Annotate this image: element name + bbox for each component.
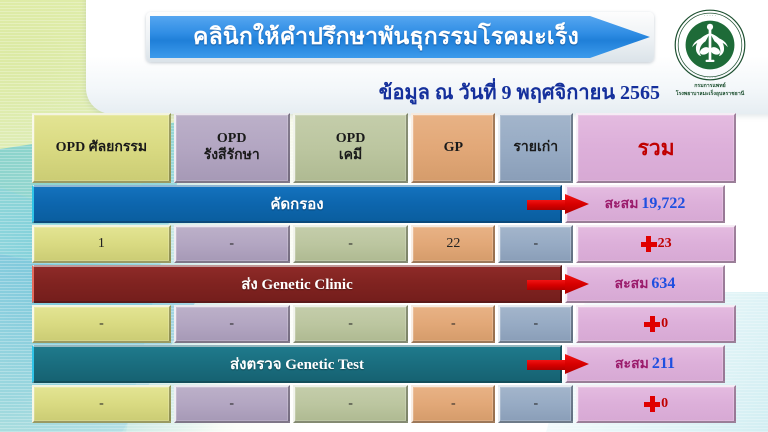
column-header-opd-radiotherapy: OPD รังสีรักษา: [174, 113, 290, 183]
cell-screening-existing: -: [498, 225, 573, 263]
cell-screening-opd-chemo: -: [293, 225, 409, 263]
total-cell-screening-delta: 23: [576, 225, 736, 263]
cell-genetic-clinic-opd-chemo-value: -: [348, 316, 353, 332]
cell-screening-opd-chemo-value: -: [348, 236, 353, 252]
total-cell-genetic-test-accum: สะสม211: [565, 345, 725, 383]
column-header-gp-line1: GP: [444, 140, 463, 155]
cell-screening-existing-value: -: [533, 236, 538, 252]
accum-value-genetic-test: 211: [652, 355, 675, 372]
delta-value-screening: 23: [658, 236, 672, 252]
cell-genetic-test-existing: -: [498, 385, 573, 423]
cell-genetic-clinic-existing-value: -: [533, 316, 538, 332]
statistics-table: OPD ศัลยกรรม OPD รังสีรักษา OPD เคมี GP: [32, 113, 736, 429]
cell-genetic-test-gp-value: -: [451, 396, 456, 412]
table-row-genetic-clinic-values: - - - - - 0: [32, 305, 736, 343]
logo-caption-line2: โรงพยาบาลมะเร็งอุบลราชธานี: [658, 91, 762, 99]
column-header-opd-chemo-line2: เคมี: [339, 148, 362, 163]
logo-caption-line1: กรมการแพทย์: [658, 83, 762, 91]
column-header-opd-surgery-line1: OPD ศัลยกรรม: [56, 140, 147, 155]
column-header-opd-radiotherapy-line2: รังสีรักษา: [204, 148, 260, 163]
title-banner-chevron: คลินิกให้คำปรึกษาพันธุกรรมโรคมะเร็ง: [150, 16, 650, 58]
band-row-genetic-clinic: ส่ง Genetic Clinic สะสม634: [32, 265, 736, 303]
cell-genetic-test-opd-radiotherapy-value: -: [229, 396, 234, 412]
delta-value-genetic-clinic: 0: [661, 316, 668, 332]
cell-genetic-clinic-opd-chemo: -: [293, 305, 409, 343]
cell-screening-opd-radiotherapy: -: [174, 225, 290, 263]
column-header-opd-radiotherapy-line1: OPD: [217, 131, 247, 146]
plus-icon: [644, 316, 660, 332]
cell-screening-opd-surgery-value: 1: [98, 236, 105, 252]
arrow-icon-genetic-test: [527, 354, 589, 374]
cell-genetic-clinic-existing: -: [498, 305, 573, 343]
band-row-genetic-test: ส่งตรวจ Genetic Test สะสม211: [32, 345, 736, 383]
band-label-genetic-clinic: ส่ง Genetic Clinic: [32, 265, 562, 303]
logo-caption: กรมการแพทย์ โรงพยาบาลมะเร็งอุบลราชธานี: [658, 83, 762, 98]
organization-logo: · · · · · · · · · · กรมการแพทย์ โรงพยาบา…: [658, 8, 762, 106]
plus-icon: [641, 236, 657, 252]
total-cell-genetic-clinic-delta: 0: [576, 305, 736, 343]
cell-genetic-test-opd-surgery: -: [32, 385, 171, 423]
slide-canvas: คลินิกให้คำปรึกษาพันธุกรรมโรคมะเร็ง ข้อม…: [0, 0, 768, 432]
cell-genetic-clinic-gp-value: -: [451, 316, 456, 332]
cell-genetic-clinic-opd-radiotherapy-value: -: [229, 316, 234, 332]
column-header-total-label: รวม: [638, 132, 675, 165]
accum-label-genetic-clinic: สะสม: [615, 277, 649, 292]
accum-label-genetic-test: สะสม: [615, 357, 649, 372]
title-banner: คลินิกให้คำปรึกษาพันธุกรรมโรคมะเร็ง: [146, 12, 654, 62]
band-label-genetic-test-text: ส่งตรวจ Genetic Test: [230, 352, 364, 376]
cell-genetic-clinic-opd-surgery: -: [32, 305, 171, 343]
cell-genetic-clinic-opd-radiotherapy: -: [174, 305, 290, 343]
cell-genetic-clinic-opd-surgery-value: -: [99, 316, 104, 332]
arrow-icon-screening: [527, 194, 589, 214]
cell-genetic-test-opd-chemo: -: [293, 385, 409, 423]
accum-value-genetic-clinic: 634: [651, 275, 675, 292]
arrow-icon-genetic-clinic: [527, 274, 589, 294]
page-title: คลินิกให้คำปรึกษาพันธุกรรมโรคมะเร็ง: [193, 19, 579, 55]
cell-screening-gp-value: 22: [446, 236, 460, 252]
table-row-screening-values: 1 - - 22 - 23: [32, 225, 736, 263]
cell-genetic-test-opd-surgery-value: -: [99, 396, 104, 412]
cell-genetic-test-existing-value: -: [533, 396, 538, 412]
total-cell-genetic-clinic-accum: สะสม634: [565, 265, 725, 303]
svg-text:· · · · ·: · · · · ·: [704, 74, 715, 79]
svg-text:· · · · ·: · · · · ·: [704, 13, 717, 18]
ministry-of-public-health-seal-icon: · · · · · · · · · ·: [673, 8, 747, 82]
cell-genetic-test-opd-chemo-value: -: [348, 396, 353, 412]
accum-value-screening: 19,722: [641, 195, 685, 212]
column-header-opd-chemo-line1: OPD: [336, 131, 366, 146]
data-as-of-date: ข้อมูล ณ วันที่ 9 พฤศจิกายน 2565: [330, 76, 660, 108]
column-header-existing-cases-line1: รายเก่า: [513, 140, 558, 155]
column-header-total: รวม: [576, 113, 736, 183]
total-cell-genetic-test-delta: 0: [576, 385, 736, 423]
table-header-row: OPD ศัลยกรรม OPD รังสีรักษา OPD เคมี GP: [32, 113, 736, 183]
column-header-opd-surgery: OPD ศัลยกรรม: [32, 113, 171, 183]
band-row-screening: คัดกรอง สะสม19,722: [32, 185, 736, 223]
cell-genetic-clinic-gp: -: [411, 305, 495, 343]
delta-value-genetic-test: 0: [661, 396, 668, 412]
plus-icon: [644, 396, 660, 412]
column-header-opd-chemo: OPD เคมี: [293, 113, 409, 183]
cell-screening-opd-radiotherapy-value: -: [229, 236, 234, 252]
column-header-gp: GP: [411, 113, 495, 183]
column-header-existing-cases: รายเก่า: [498, 113, 573, 183]
band-label-screening-text: คัดกรอง: [270, 192, 323, 216]
band-label-genetic-clinic-text: ส่ง Genetic Clinic: [241, 272, 352, 296]
accum-label-screening: สะสม: [605, 197, 639, 212]
band-label-screening: คัดกรอง: [32, 185, 562, 223]
table-row-genetic-test-values: - - - - - 0: [32, 385, 736, 423]
total-cell-screening-accum: สะสม19,722: [565, 185, 725, 223]
cell-genetic-test-gp: -: [411, 385, 495, 423]
band-label-genetic-test: ส่งตรวจ Genetic Test: [32, 345, 562, 383]
cell-genetic-test-opd-radiotherapy: -: [174, 385, 290, 423]
cell-screening-gp: 22: [411, 225, 495, 263]
cell-screening-opd-surgery: 1: [32, 225, 171, 263]
